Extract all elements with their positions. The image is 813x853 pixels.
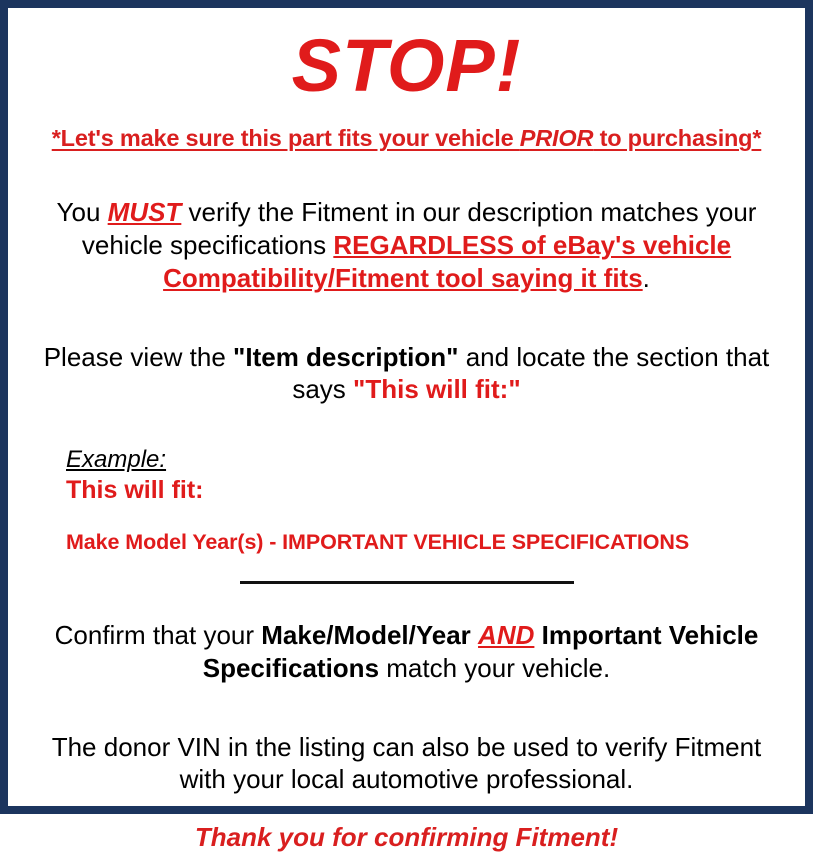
paragraph-confirm-match: Confirm that your Make/Model/Year AND Im…	[22, 619, 791, 685]
confirm-text-part3	[534, 620, 541, 650]
emphasis-and: AND	[478, 620, 534, 650]
emphasis-item-description: "Item description"	[233, 342, 458, 372]
subtitle-banner: *Let's make sure this part fits your veh…	[22, 125, 791, 152]
example-block: Example: This will fit: Make Model Year(…	[22, 446, 791, 555]
subtitle-text-before: *Let's make sure this part fits your veh…	[52, 125, 520, 151]
section-divider	[240, 581, 574, 584]
subtitle-text-after: to purchasing*	[593, 125, 761, 151]
thank-you-message: Thank you for confirming Fitment!	[22, 822, 791, 853]
paragraph-view-description: Please view the "Item description" and l…	[22, 341, 791, 407]
example-label: Example:	[66, 446, 166, 474]
stop-heading: STOP!	[22, 28, 791, 103]
paragraph-donor-vin: The donor VIN in the listing can also be…	[22, 731, 791, 797]
confirm-text-part4: match your vehicle.	[379, 653, 610, 683]
must-text-part1: You	[57, 197, 108, 227]
example-spec-line: Make Model Year(s) - IMPORTANT VEHICLE S…	[66, 530, 791, 555]
emphasis-make-model-year: Make/Model/Year	[261, 620, 471, 650]
emphasis-must: MUST	[108, 197, 182, 227]
fitment-notice-card: STOP! *Let's make sure this part fits yo…	[0, 0, 813, 814]
section-divider-wrapper	[22, 581, 791, 584]
must-text-part3: .	[643, 263, 650, 293]
confirm-text-part2	[471, 620, 478, 650]
emphasis-this-will-fit-quote: "This will fit:"	[353, 374, 521, 404]
view-text-part1: Please view the	[44, 342, 233, 372]
confirm-text-part1: Confirm that your	[55, 620, 262, 650]
paragraph-must-verify: You MUST verify the Fitment in our descr…	[22, 196, 791, 294]
example-will-fit-heading: This will fit:	[66, 476, 791, 505]
subtitle-emphasis-prior: PRIOR	[520, 125, 593, 151]
